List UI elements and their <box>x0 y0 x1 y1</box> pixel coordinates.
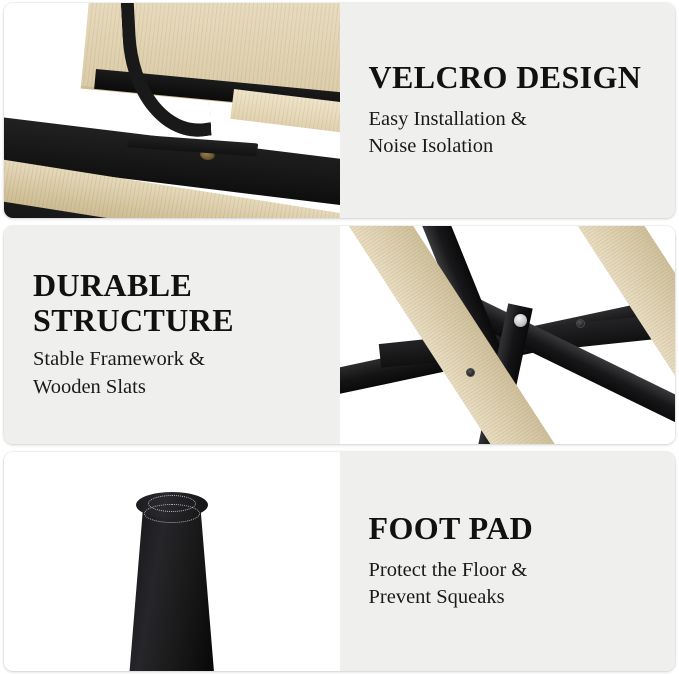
feature-photo-durable-structure <box>340 226 676 444</box>
feature-title-line-1: DURABLE <box>33 267 192 303</box>
feature-row-foot-pad: FOOT PAD Protect the Floor & Prevent Squ… <box>4 452 675 671</box>
feature-photo-foot-pad <box>4 452 340 671</box>
feature-subtitle-foot-pad: Protect the Floor & Prevent Squeaks <box>369 557 644 612</box>
rivet-hole-a-image <box>576 319 585 328</box>
feature-text-foot-pad: FOOT PAD Protect the Floor & Prevent Squ… <box>340 452 676 671</box>
product-feature-infographic: VELCRO DESIGN Easy Installation & Noise … <box>0 0 679 674</box>
feature-subtitle-line-2: Wooden Slats <box>33 376 146 398</box>
feature-subtitle-velcro-design: Easy Installation & Noise Isolation <box>369 106 644 161</box>
feature-title-foot-pad: FOOT PAD <box>369 511 676 546</box>
feature-title-line-2: STRUCTURE <box>33 302 234 338</box>
center-bolt-image <box>514 314 527 327</box>
feature-subtitle-line-2: Prevent Squeaks <box>369 586 505 608</box>
feature-subtitle-line-1: Stable Framework & <box>33 348 205 370</box>
feature-subtitle-line-1: Protect the Floor & <box>369 559 528 581</box>
feature-row-velcro-design: VELCRO DESIGN Easy Installation & Noise … <box>4 3 675 218</box>
feature-row-durable-structure: DURABLE STRUCTURE Stable Framework & Woo… <box>4 226 675 444</box>
velcro-strap-image <box>120 3 211 147</box>
rivet-hole-b-image <box>466 368 475 377</box>
feature-title-durable-structure: DURABLE STRUCTURE <box>33 268 283 337</box>
feature-text-velcro-design: VELCRO DESIGN Easy Installation & Noise … <box>340 3 676 218</box>
feature-subtitle-line-2: Noise Isolation <box>369 135 494 157</box>
feature-photo-velcro-design <box>4 3 340 218</box>
feature-title-velcro-design: VELCRO DESIGN <box>369 60 676 95</box>
feature-subtitle-durable-structure: Stable Framework & Wooden Slats <box>33 346 308 401</box>
foot-pad-ring-lower-image <box>144 504 200 523</box>
feature-text-durable-structure: DURABLE STRUCTURE Stable Framework & Woo… <box>4 226 340 444</box>
feature-subtitle-line-1: Easy Installation & <box>369 108 527 130</box>
